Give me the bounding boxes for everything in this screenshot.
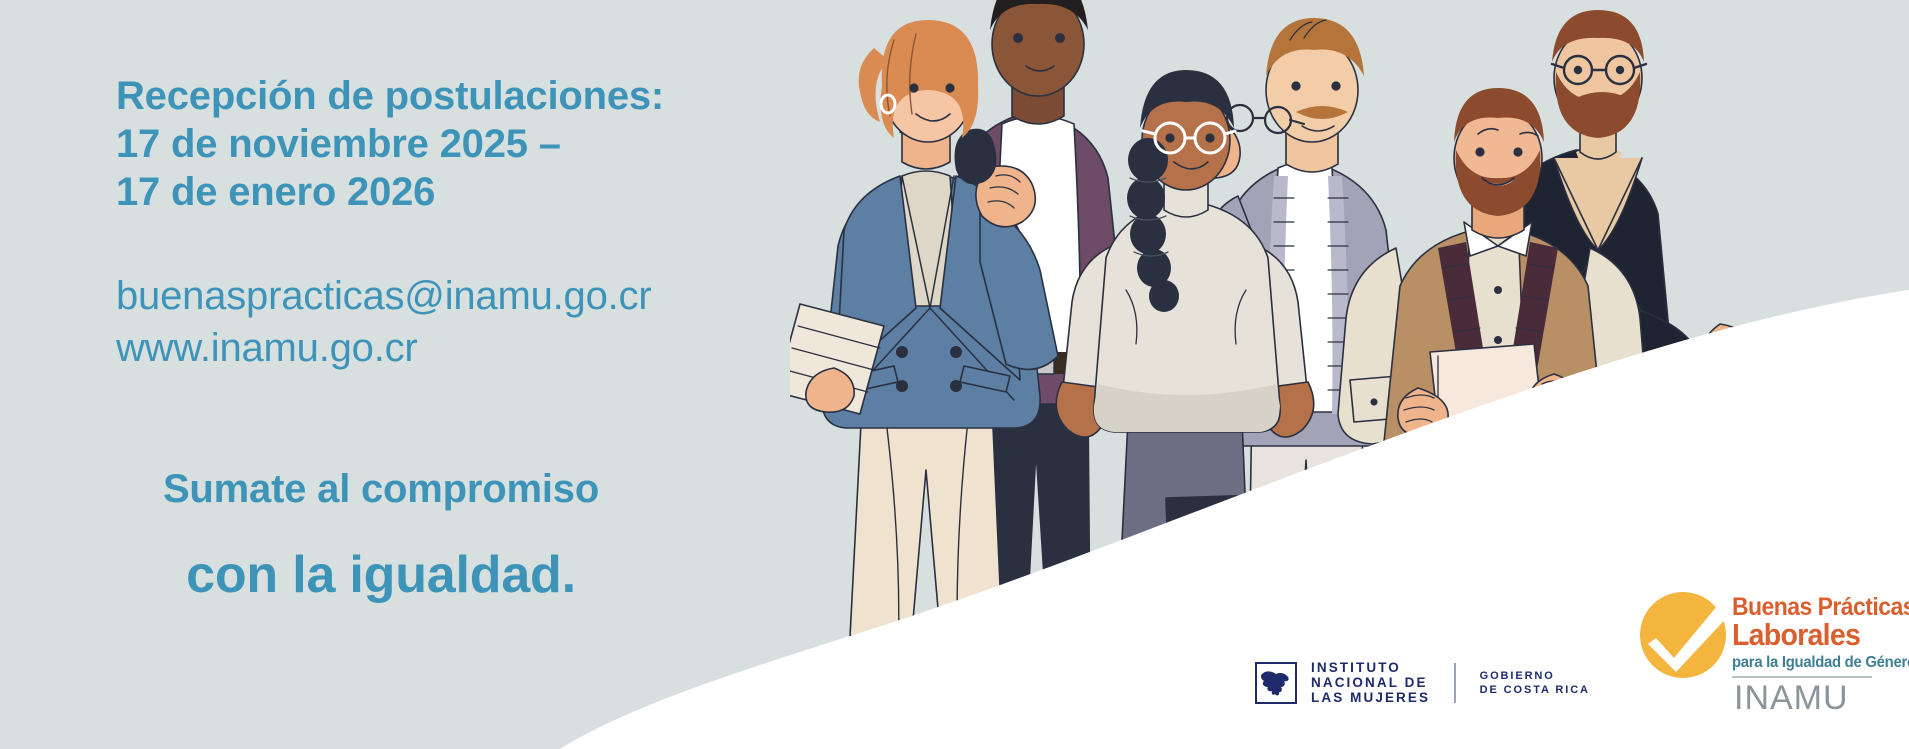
headline-dates: Recepción de postulaciones: 17 de noviem… xyxy=(116,72,664,216)
costa-rica-crest-icon xyxy=(1255,662,1297,704)
bpl-line-2: Laborales xyxy=(1732,619,1860,651)
bpl-line-3: para la Igualdad de Género xyxy=(1732,654,1909,671)
institute-wordmark: INSTITUTO NACIONAL DE LAS MUJERES xyxy=(1311,660,1430,705)
gobierno-line-2: DE COSTA RICA xyxy=(1480,683,1590,697)
buenas-practicas-laborales-logo: Buenas Prácticas Laborales para la Igual… xyxy=(1640,592,1900,742)
contact-info: buenaspracticas@inamu.go.cr www.inamu.go… xyxy=(116,270,651,374)
tagline-line-1: Sumate al compromiso xyxy=(116,469,646,509)
institute-line-3: LAS MUJERES xyxy=(1311,690,1430,705)
inamu-campaign-banner: Recepción de postulaciones: 17 de noviem… xyxy=(0,0,1909,749)
tagline: Sumate al compromiso con la igualdad. xyxy=(116,437,646,633)
bpl-divider xyxy=(1732,676,1872,678)
logo-divider xyxy=(1454,663,1456,703)
institute-line-1: INSTITUTO xyxy=(1311,660,1430,675)
checkmark-icon xyxy=(1648,598,1726,676)
gobierno-line-1: GOBIERNO xyxy=(1480,669,1590,683)
tagline-line-2: con la igualdad. xyxy=(116,549,646,601)
inamu-wordmark: INAMU xyxy=(1734,680,1849,716)
gobierno-wordmark: GOBIERNO DE COSTA RICA xyxy=(1480,669,1590,697)
costa-rica-map-shape xyxy=(1260,668,1292,698)
institute-line-2: NACIONAL DE xyxy=(1311,675,1430,690)
government-logo: INSTITUTO NACIONAL DE LAS MUJERES GOBIER… xyxy=(1255,660,1590,705)
